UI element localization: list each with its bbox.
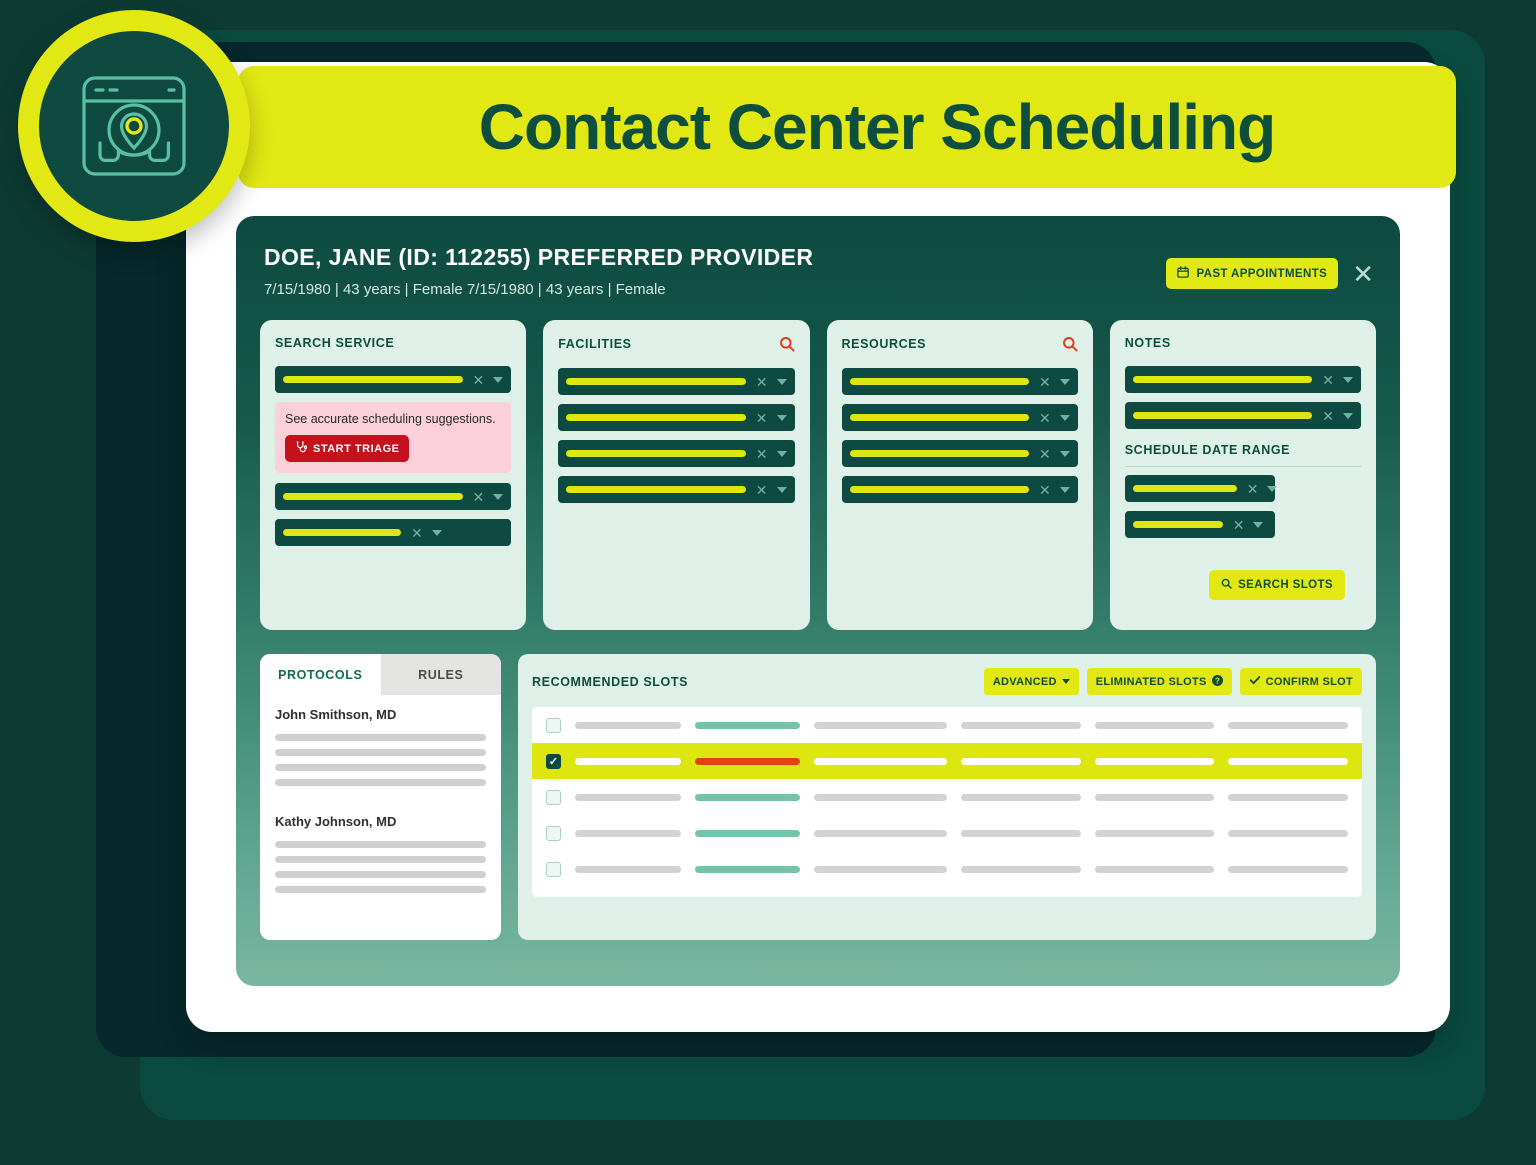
clear-icon[interactable]: ✕ bbox=[1039, 411, 1051, 425]
row-checkbox[interactable] bbox=[546, 718, 561, 733]
eliminated-slots-label: ELIMINATED SLOTS bbox=[1096, 676, 1207, 688]
start-triage-label: START TRIAGE bbox=[313, 443, 399, 455]
facility-field[interactable]: ✕ bbox=[558, 404, 794, 431]
redacted-value bbox=[566, 414, 746, 421]
cell-value bbox=[1228, 722, 1348, 729]
search-service-card: SEARCH SERVICE ✕ See accurate scheduling… bbox=[260, 320, 526, 630]
cell-value bbox=[961, 830, 1081, 837]
facilities-title: FACILITIES bbox=[558, 337, 631, 351]
cell-value bbox=[961, 794, 1081, 801]
clear-icon[interactable]: ✕ bbox=[473, 373, 485, 387]
search-slots-button[interactable]: SEARCH SLOTS bbox=[1209, 570, 1345, 600]
slots-header: RECOMMENDED SLOTS ADVANCED ELIMINATED SL… bbox=[532, 668, 1362, 695]
row-checkbox[interactable]: ✓ bbox=[546, 754, 561, 769]
protocols-body: John Smithson, MD Kathy Johnson, MD bbox=[260, 695, 501, 893]
cell-status bbox=[695, 866, 800, 873]
table-row[interactable]: ✓ bbox=[532, 743, 1362, 779]
chevron-down-icon[interactable] bbox=[1267, 486, 1277, 492]
advanced-label: ADVANCED bbox=[993, 676, 1057, 688]
redacted-value bbox=[283, 493, 463, 500]
search-service-field[interactable]: ✕ bbox=[275, 483, 511, 510]
cell-value bbox=[814, 758, 947, 765]
placeholder-line bbox=[275, 886, 486, 893]
clear-icon[interactable]: ✕ bbox=[756, 375, 768, 389]
calendar-icon bbox=[1177, 266, 1189, 281]
cell-value bbox=[961, 722, 1081, 729]
chevron-down-icon[interactable] bbox=[432, 530, 442, 536]
search-icon[interactable] bbox=[1062, 336, 1078, 352]
cell-value bbox=[1095, 794, 1215, 801]
placeholder-line bbox=[275, 749, 486, 756]
protocols-card: PROTOCOLS RULES John Smithson, MD Kathy … bbox=[260, 654, 501, 940]
redacted-value bbox=[1133, 521, 1223, 528]
resources-card: RESOURCES ✕ ✕ ✕ bbox=[827, 320, 1093, 630]
cell-value bbox=[814, 830, 947, 837]
facilities-header: FACILITIES bbox=[558, 336, 794, 352]
chevron-down-icon[interactable] bbox=[493, 494, 503, 500]
cell-value bbox=[575, 722, 681, 729]
cell-value bbox=[575, 758, 681, 765]
row-checkbox[interactable] bbox=[546, 790, 561, 805]
notes-title: NOTES bbox=[1125, 336, 1171, 350]
chevron-down-icon[interactable] bbox=[1253, 522, 1263, 528]
banner: Contact Center Scheduling bbox=[238, 66, 1456, 188]
redacted-value bbox=[566, 450, 746, 457]
cell-value bbox=[814, 794, 947, 801]
clear-icon[interactable]: ✕ bbox=[1039, 447, 1051, 461]
note-field[interactable]: ✕ bbox=[1125, 402, 1361, 429]
chevron-down-icon[interactable] bbox=[493, 377, 503, 383]
facility-field[interactable]: ✕ bbox=[558, 440, 794, 467]
table-row[interactable] bbox=[532, 707, 1362, 743]
clear-icon[interactable]: ✕ bbox=[1233, 518, 1245, 532]
notes-header: NOTES bbox=[1125, 336, 1361, 350]
redacted-value bbox=[283, 376, 463, 383]
cell-value bbox=[575, 830, 681, 837]
table-row[interactable] bbox=[532, 779, 1362, 815]
row-checkbox[interactable] bbox=[546, 862, 561, 877]
placeholder-line bbox=[275, 734, 486, 741]
cell-value bbox=[1228, 830, 1348, 837]
cell-value bbox=[1095, 866, 1215, 873]
cell-value bbox=[1228, 866, 1348, 873]
contact-center-window-icon bbox=[39, 31, 229, 221]
protocols-tabs: PROTOCOLS RULES bbox=[260, 654, 501, 695]
chevron-down-icon[interactable] bbox=[1060, 379, 1070, 385]
redacted-value bbox=[283, 529, 401, 536]
close-icon[interactable]: ✕ bbox=[1352, 261, 1374, 287]
redacted-value bbox=[1133, 412, 1313, 419]
notes-card: NOTES ✕ ✕ SCHEDULE DATE RANGE ✕ bbox=[1110, 320, 1376, 630]
chevron-down-icon[interactable] bbox=[1343, 413, 1353, 419]
cell-value bbox=[961, 758, 1081, 765]
resource-field[interactable]: ✕ bbox=[842, 440, 1078, 467]
date-range-start-field[interactable]: ✕ bbox=[1125, 475, 1275, 502]
cell-value bbox=[814, 866, 947, 873]
cell-status bbox=[695, 722, 800, 729]
chevron-down-icon[interactable] bbox=[777, 451, 787, 457]
chevron-down-icon[interactable] bbox=[1060, 487, 1070, 493]
clear-icon[interactable]: ✕ bbox=[1247, 482, 1259, 496]
confirm-slot-label: CONFIRM SLOT bbox=[1266, 676, 1353, 688]
slots-table: ✓ bbox=[532, 707, 1362, 897]
cell-value bbox=[1228, 758, 1348, 765]
chevron-down-icon[interactable] bbox=[1343, 377, 1353, 383]
redacted-value bbox=[1133, 376, 1313, 383]
triage-callout: See accurate scheduling suggestions. STA… bbox=[275, 402, 511, 473]
cell-value bbox=[814, 722, 947, 729]
clear-icon[interactable]: ✕ bbox=[756, 411, 768, 425]
cell-value bbox=[1095, 830, 1215, 837]
protocol-provider-name: John Smithson, MD bbox=[275, 707, 486, 722]
search-slots-label: SEARCH SLOTS bbox=[1238, 579, 1333, 591]
resource-field[interactable]: ✕ bbox=[842, 404, 1078, 431]
redacted-value bbox=[850, 414, 1030, 421]
schedule-date-range-title: SCHEDULE DATE RANGE bbox=[1125, 443, 1361, 467]
clear-icon[interactable]: ✕ bbox=[1322, 409, 1334, 423]
logo-badge bbox=[18, 10, 250, 242]
bottom-row: PROTOCOLS RULES John Smithson, MD Kathy … bbox=[236, 630, 1400, 940]
search-icon bbox=[1221, 578, 1232, 592]
stethoscope-icon bbox=[295, 441, 307, 456]
eliminated-slots-button[interactable]: ELIMINATED SLOTS ? bbox=[1087, 668, 1232, 695]
tab-rules[interactable]: RULES bbox=[381, 654, 502, 695]
past-appointments-button[interactable]: PAST APPOINTMENTS bbox=[1166, 258, 1338, 289]
spacer bbox=[275, 794, 486, 814]
clear-icon[interactable]: ✕ bbox=[473, 490, 485, 504]
tab-protocols[interactable]: PROTOCOLS bbox=[260, 654, 381, 695]
triage-text: See accurate scheduling suggestions. bbox=[285, 412, 501, 426]
redacted-value bbox=[850, 450, 1030, 457]
cell-status bbox=[695, 794, 800, 801]
clear-icon[interactable]: ✕ bbox=[1322, 373, 1334, 387]
past-appointments-label: PAST APPOINTMENTS bbox=[1196, 268, 1327, 280]
table-row[interactable] bbox=[532, 851, 1362, 887]
search-service-field[interactable]: ✕ bbox=[275, 366, 511, 393]
search-service-title: SEARCH SERVICE bbox=[275, 336, 394, 350]
clear-icon[interactable]: ✕ bbox=[1039, 483, 1051, 497]
table-row[interactable] bbox=[532, 815, 1362, 851]
chevron-down-icon[interactable] bbox=[1060, 415, 1070, 421]
clear-icon[interactable]: ✕ bbox=[756, 447, 768, 461]
filters-row: SEARCH SERVICE ✕ See accurate scheduling… bbox=[236, 298, 1400, 630]
app-panel: DOE, JANE (ID: 112255) PREFERRED PROVIDE… bbox=[236, 216, 1400, 986]
clear-icon[interactable]: ✕ bbox=[756, 483, 768, 497]
notes-body: ✕ ✕ SCHEDULE DATE RANGE ✕ ✕ bbox=[1125, 366, 1361, 614]
search-service-field[interactable]: ✕ bbox=[275, 519, 511, 546]
redacted-value bbox=[566, 486, 746, 493]
cell-value bbox=[575, 794, 681, 801]
resource-field[interactable]: ✕ bbox=[842, 368, 1078, 395]
cell-value bbox=[1095, 722, 1215, 729]
recommended-slots-title: RECOMMENDED SLOTS bbox=[532, 675, 688, 689]
placeholder-line bbox=[275, 856, 486, 863]
date-range-end-field[interactable]: ✕ bbox=[1125, 511, 1275, 538]
clear-icon[interactable]: ✕ bbox=[411, 526, 423, 540]
placeholder-line bbox=[275, 779, 486, 786]
banner-title: Contact Center Scheduling bbox=[419, 90, 1275, 164]
redacted-value bbox=[1133, 485, 1237, 492]
chevron-down-icon[interactable] bbox=[777, 415, 787, 421]
recommended-slots-card: RECOMMENDED SLOTS ADVANCED ELIMINATED SL… bbox=[518, 654, 1376, 940]
cell-value bbox=[575, 866, 681, 873]
cell-status bbox=[695, 758, 800, 765]
cell-status bbox=[695, 830, 800, 837]
resource-field[interactable]: ✕ bbox=[842, 476, 1078, 503]
search-icon[interactable] bbox=[779, 336, 795, 352]
resources-title: RESOURCES bbox=[842, 337, 927, 351]
row-checkbox[interactable] bbox=[546, 826, 561, 841]
check-icon bbox=[1249, 674, 1261, 689]
facility-field[interactable]: ✕ bbox=[558, 476, 794, 503]
slots-actions: ADVANCED ELIMINATED SLOTS ? bbox=[984, 668, 1362, 695]
facility-field[interactable]: ✕ bbox=[558, 368, 794, 395]
cell-value bbox=[1228, 794, 1348, 801]
placeholder-line bbox=[275, 764, 486, 771]
protocol-provider-name: Kathy Johnson, MD bbox=[275, 814, 486, 829]
redacted-value bbox=[850, 378, 1030, 385]
cell-value bbox=[1095, 758, 1215, 765]
chevron-down-icon[interactable] bbox=[777, 379, 787, 385]
confirm-slot-button[interactable]: CONFIRM SLOT bbox=[1240, 668, 1362, 695]
facilities-card: FACILITIES ✕ ✕ ✕ bbox=[543, 320, 809, 630]
note-field[interactable]: ✕ bbox=[1125, 366, 1361, 393]
help-circle-icon: ? bbox=[1212, 675, 1223, 689]
resources-header: RESOURCES bbox=[842, 336, 1078, 352]
redacted-value bbox=[566, 378, 746, 385]
clear-icon[interactable]: ✕ bbox=[1039, 375, 1051, 389]
cell-value bbox=[961, 866, 1081, 873]
search-service-header: SEARCH SERVICE bbox=[275, 336, 511, 350]
header-actions: PAST APPOINTMENTS ✕ bbox=[1166, 258, 1374, 289]
chevron-down-icon bbox=[1062, 679, 1070, 684]
redacted-value bbox=[850, 486, 1030, 493]
placeholder-line bbox=[275, 841, 486, 848]
svg-text:?: ? bbox=[1215, 676, 1220, 685]
start-triage-button[interactable]: START TRIAGE bbox=[285, 435, 409, 462]
chevron-down-icon[interactable] bbox=[777, 487, 787, 493]
chevron-down-icon[interactable] bbox=[1060, 451, 1070, 457]
placeholder-line bbox=[275, 871, 486, 878]
advanced-button[interactable]: ADVANCED bbox=[984, 668, 1079, 695]
